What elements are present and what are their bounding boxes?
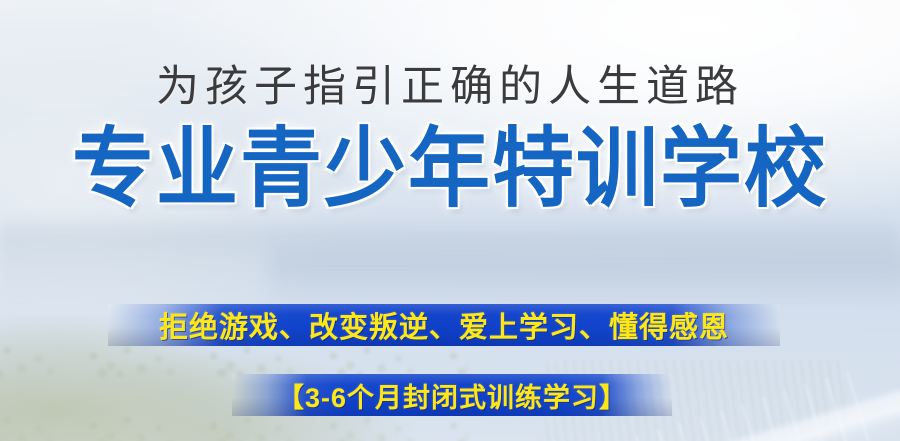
banner-title: 专业青少年特训学校: [0, 123, 900, 217]
promo-banner: 为孩子指引正确的人生道路 专业青少年特训学校 拒绝游戏、改变叛逆、爱上学习、懂得…: [0, 0, 900, 441]
banner-headline: 为孩子指引正确的人生道路: [0, 66, 900, 109]
banner-duration-band: 【3-6个月封闭式训练学习】: [232, 374, 672, 416]
banner-slogan-text: 拒绝游戏、改变叛逆、爱上学习、懂得感恩: [159, 304, 729, 346]
banner-content: 为孩子指引正确的人生道路 专业青少年特训学校 拒绝游戏、改变叛逆、爱上学习、懂得…: [0, 0, 900, 441]
banner-slogan-band: 拒绝游戏、改变叛逆、爱上学习、懂得感恩: [108, 304, 780, 346]
banner-duration-text: 【3-6个月封闭式训练学习】: [277, 376, 627, 415]
